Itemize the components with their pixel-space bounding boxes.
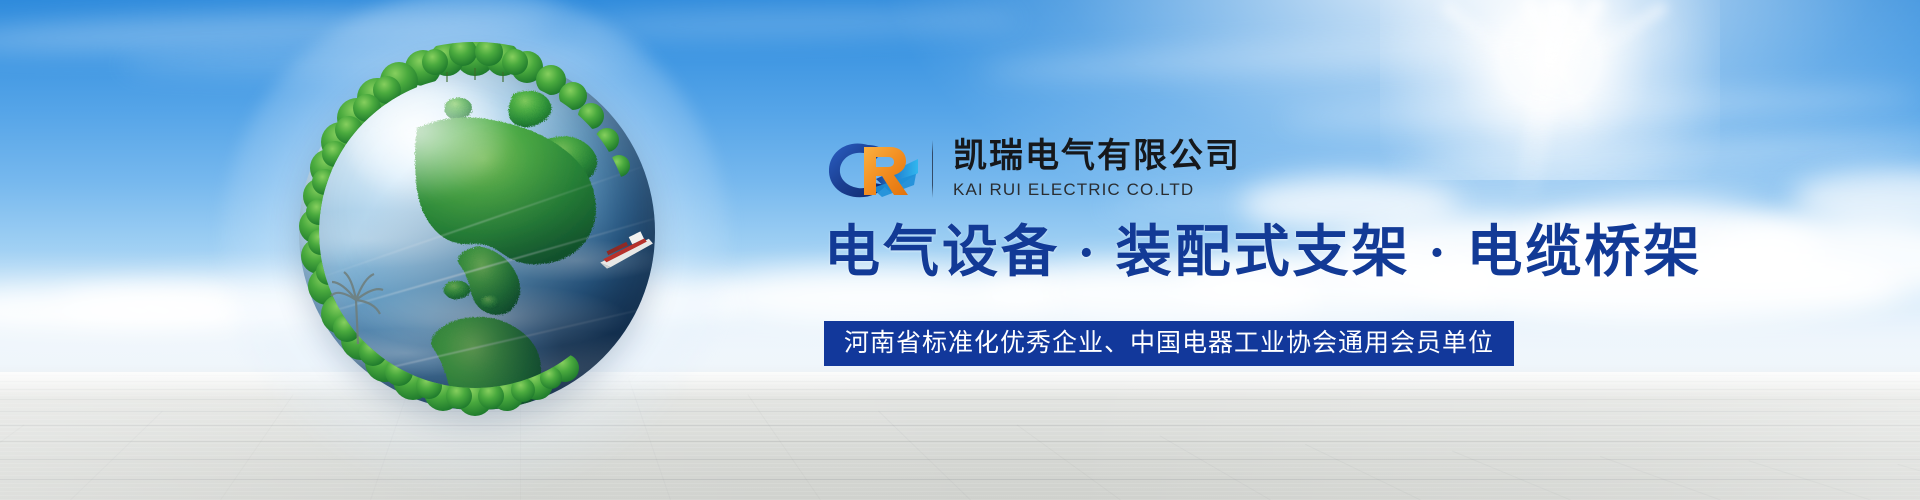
hero-banner: 凯瑞电气有限公司 KAI RUI ELECTRIC CO.LTD 电气设备 · … xyxy=(0,0,1920,500)
logo-divider xyxy=(932,140,933,198)
headline: 电气设备 · 装配式支架 · 电缆桥架 xyxy=(824,224,1702,283)
cr-monogram-logo[interactable] xyxy=(824,133,920,205)
tree-ring xyxy=(277,34,673,430)
company-name-cn: 凯瑞电气有限公司 xyxy=(953,138,1241,175)
status-badge-label: 河南省标准化优秀企业、中国电器工业协会通用会员单位 xyxy=(844,331,1494,356)
green-earth-globe xyxy=(277,34,673,430)
brand-lockup[interactable]: 凯瑞电气有限公司 KAI RUI ELECTRIC CO.LTD xyxy=(824,131,1241,207)
status-badge: 河南省标准化优秀企业、中国电器工业协会通用会员单位 xyxy=(824,321,1514,366)
palm-tree-icon xyxy=(329,260,387,346)
brand-text: 凯瑞电气有限公司 KAI RUI ELECTRIC CO.LTD xyxy=(953,138,1241,200)
company-name-en: KAI RUI ELECTRIC CO.LTD xyxy=(953,180,1241,200)
banner-content: 凯瑞电气有限公司 KAI RUI ELECTRIC CO.LTD 电气设备 · … xyxy=(824,0,1524,500)
